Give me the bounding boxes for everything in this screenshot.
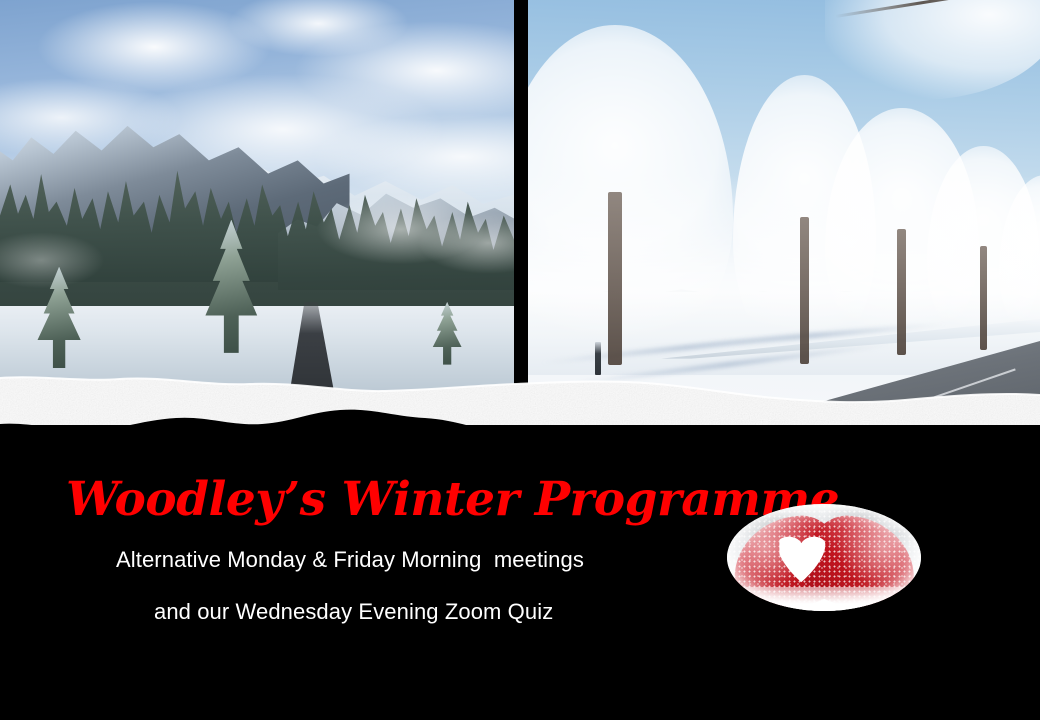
lower-black-panel: Woodley’s Winter Programme Alternative M… — [0, 425, 1040, 720]
tree-trunk — [980, 246, 987, 350]
snowy-mountain-valley-photo — [0, 0, 514, 392]
red-mittens-heart-photo — [727, 504, 921, 611]
page-title: Woodley’s Winter Programme — [66, 475, 666, 524]
photo-band — [0, 0, 1040, 425]
tree-trunk — [800, 217, 809, 364]
roadside-marker-post — [595, 342, 601, 375]
frosted-roadside-trees-photo — [528, 0, 1040, 417]
tree-trunk — [897, 229, 906, 355]
subtitle-line-1: Alternative Monday & Friday Morning meet… — [116, 547, 584, 573]
subtitle-line-2: and our Wednesday Evening Zoom Quiz — [154, 599, 553, 625]
winter-programme-slide: Woodley’s Winter Programme Alternative M… — [0, 0, 1040, 720]
snow-meadow — [0, 306, 514, 392]
tree-trunk — [608, 192, 622, 365]
oval-feather-vignette — [727, 504, 921, 611]
